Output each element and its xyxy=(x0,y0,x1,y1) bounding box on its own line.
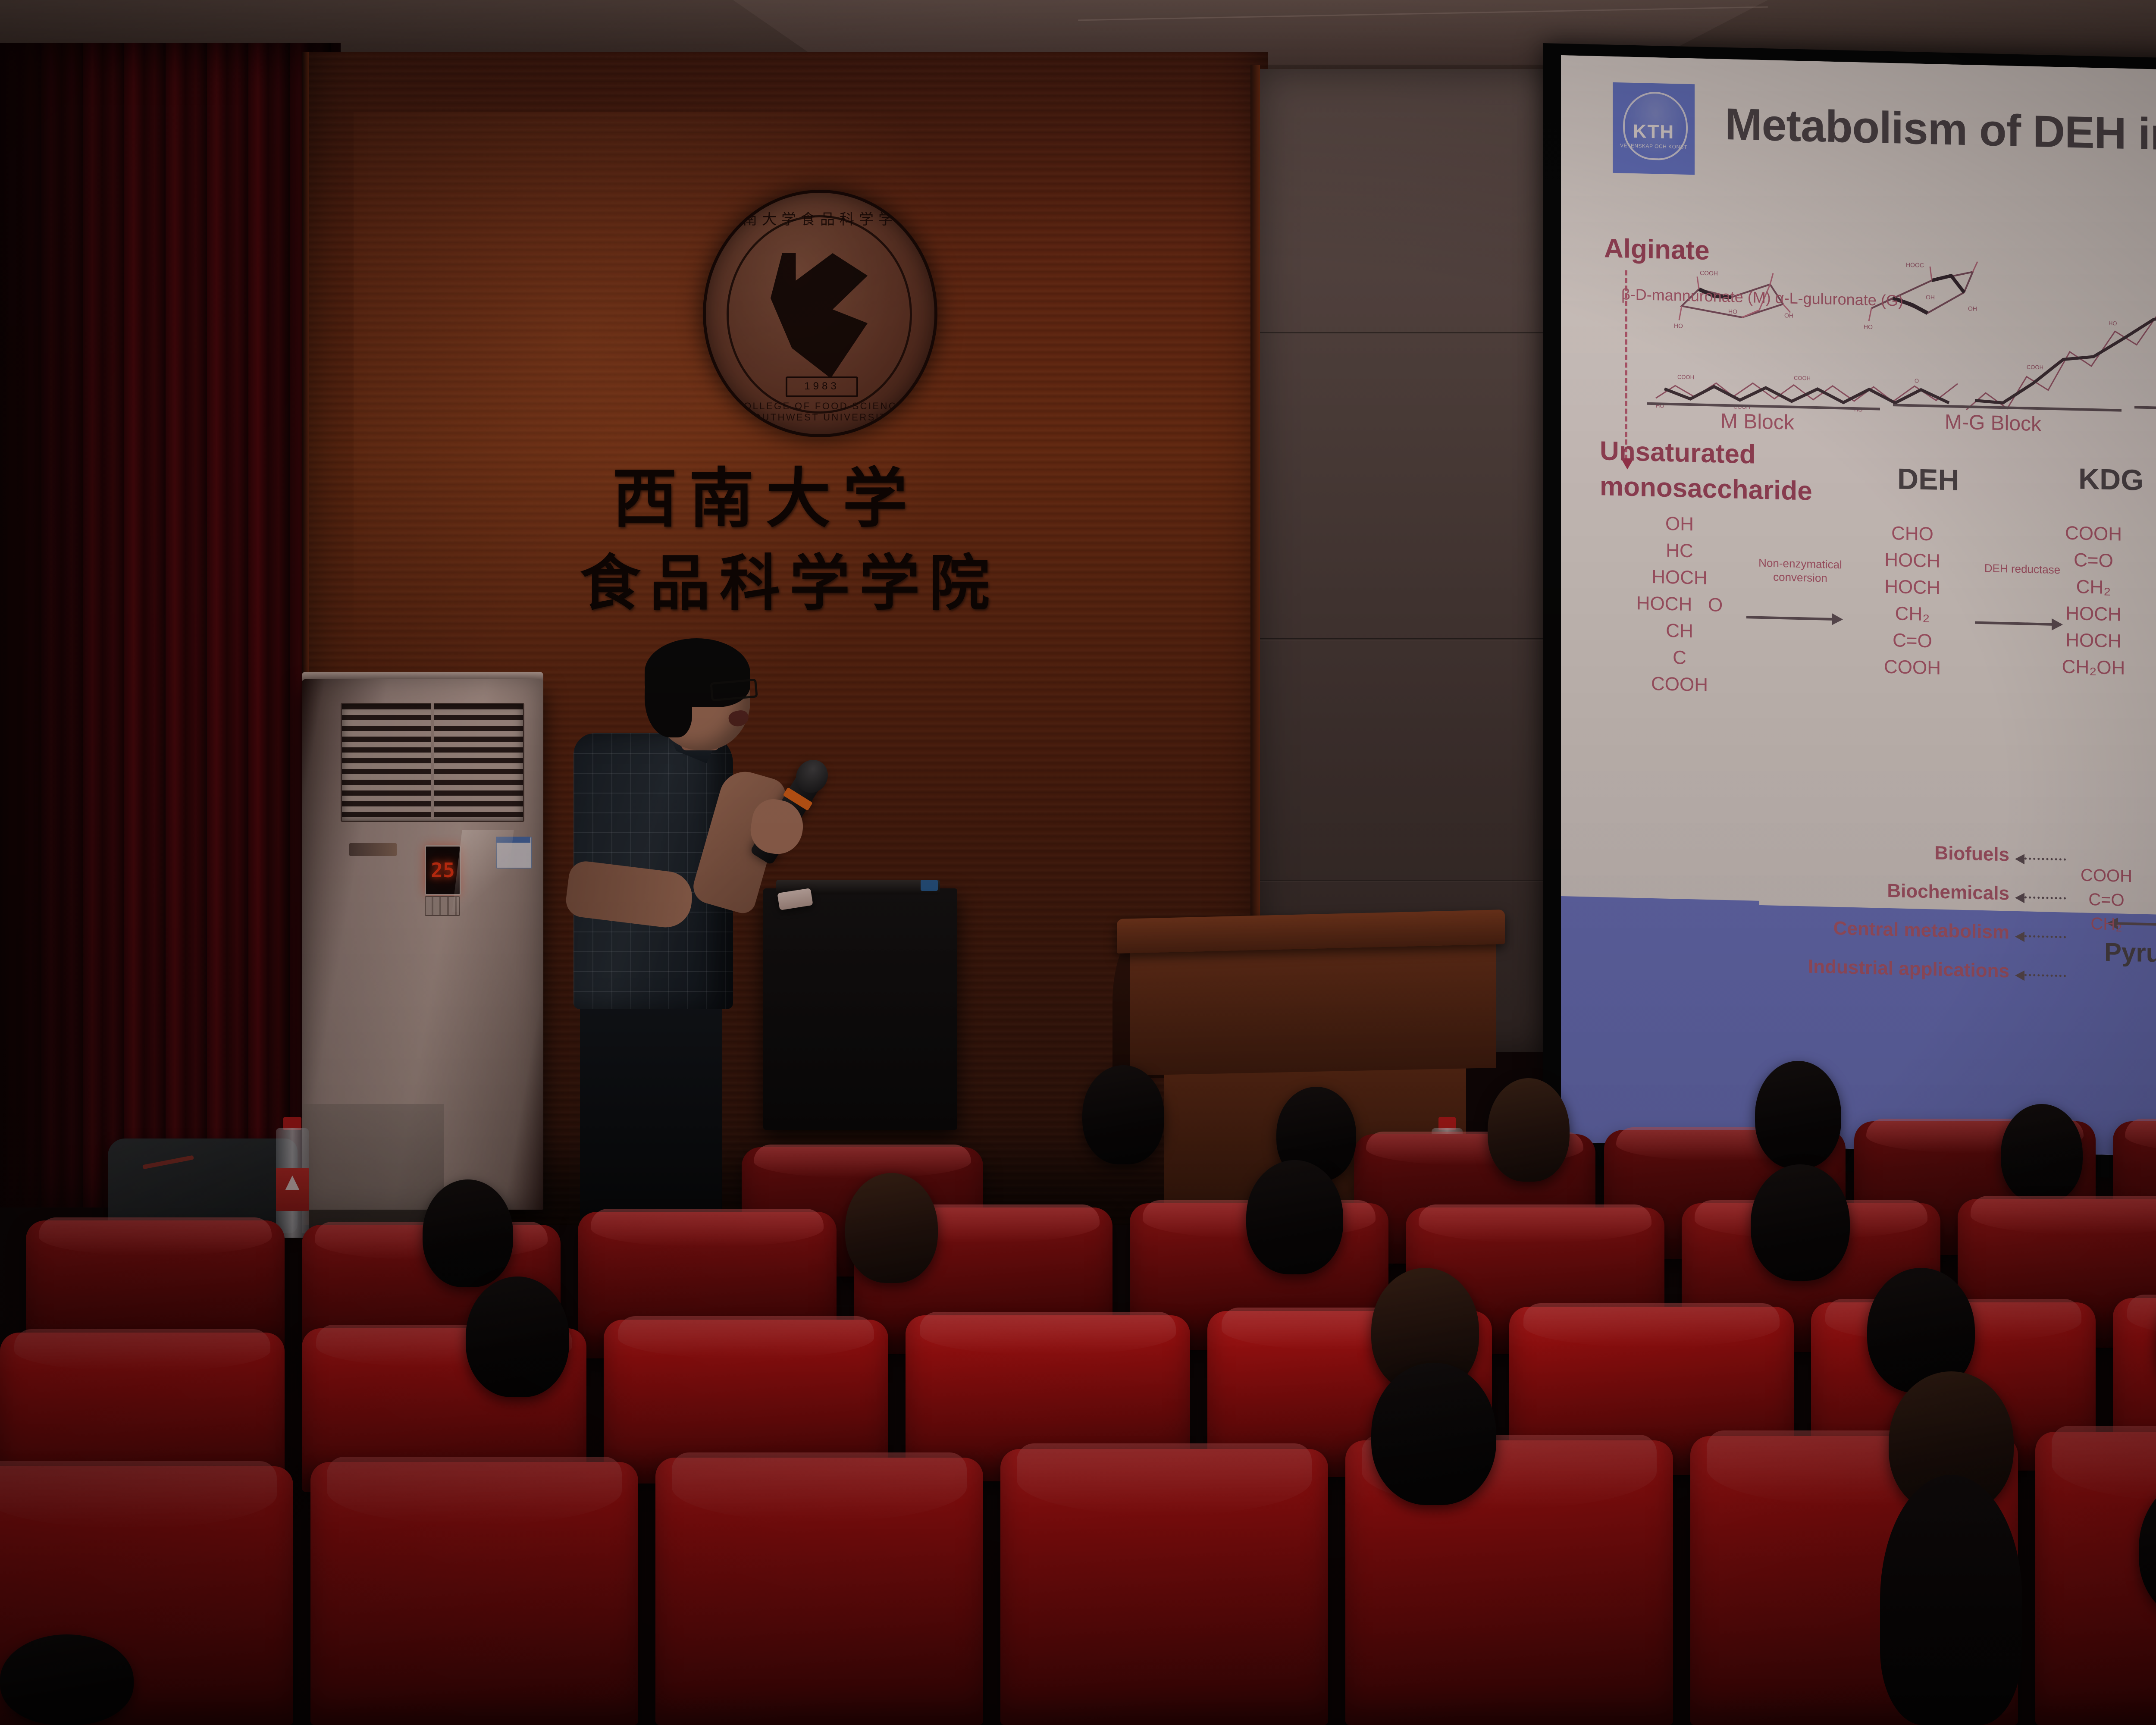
label-unsaturated-line2: monosaccharide xyxy=(1600,471,1812,507)
mg-block-chain-structure: COOH HO O xyxy=(1962,250,2156,430)
svg-text:OH: OH xyxy=(1926,294,1935,301)
theater-seat[interactable] xyxy=(1000,1449,1328,1725)
audience-head xyxy=(1488,1078,1570,1182)
output-arrow-biofuels xyxy=(2024,857,2066,860)
formula-deh: CHO HOCH HOCH CH₂ C=O COOH xyxy=(1858,519,1966,682)
output-arrow-biochemicals xyxy=(2024,896,2066,899)
svg-text:COOH: COOH xyxy=(1794,375,1811,382)
audience-head xyxy=(2001,1104,2083,1203)
audience-head xyxy=(1082,1065,1164,1164)
audience-head xyxy=(1751,1164,1850,1281)
audience-head xyxy=(845,1173,938,1283)
svg-text:HOOC: HOOC xyxy=(1906,261,1924,269)
label-m-block: M Block xyxy=(1720,409,1794,435)
label-kdg: KDG xyxy=(2078,462,2143,497)
svg-text:OH: OH xyxy=(1784,312,1793,319)
audience-hair xyxy=(1880,1475,2022,1725)
kth-logo: KTH VETENSKAP OCH KONST xyxy=(1613,82,1695,175)
curtain-shadow xyxy=(0,43,121,1207)
projection-screen: KTH VETENSKAP OCH KONST Metabolism of DE… xyxy=(1561,55,2156,1166)
svg-text:HO: HO xyxy=(1674,322,1683,329)
air-conditioner-temperature: 25 xyxy=(426,859,460,882)
audience-head xyxy=(1371,1363,1496,1505)
speaker-legs xyxy=(580,988,722,1229)
monomer-caption: β-D-mannuronate (M) α-L-guluronate (G) xyxy=(1621,285,1903,310)
output-biofuels: Biofuels xyxy=(1785,839,2009,866)
svg-text:COOH: COOH xyxy=(2027,364,2043,370)
label-alginate: Alginate xyxy=(1604,233,1710,266)
svg-text:HO: HO xyxy=(2109,320,2117,326)
panel-edge-trim xyxy=(1250,65,1260,1057)
svg-text:COOH: COOH xyxy=(1677,373,1694,380)
speaker-glasses xyxy=(710,678,758,701)
audience-head xyxy=(1246,1160,1343,1274)
enzyme-label-non-enzymatic: Non-enzymatical conversion xyxy=(1742,555,1858,586)
slide-title: Metabolism of DEH in microorganism xyxy=(1725,99,2156,169)
arrow-nonenzymatic xyxy=(1746,616,1841,621)
formula-unsaturated-monosaccharide: OH HC HOCH HOCH O CH C COOH xyxy=(1626,510,1733,699)
audience-head xyxy=(466,1276,569,1397)
label-pyruvate: Pyruvate xyxy=(2104,937,2156,969)
formula-kdg: COOH C=O CH₂ HOCH HOCH CH₂OH xyxy=(2040,519,2147,682)
audience-head xyxy=(423,1179,513,1287)
output-biochemicals: Biochemicals xyxy=(1742,877,2009,905)
label-unsaturated-line1: Unsaturated xyxy=(1600,436,1756,470)
air-conditioner-highlight xyxy=(452,830,514,912)
label-mg-block: M-G Block xyxy=(1945,410,2041,436)
theater-seat[interactable] xyxy=(2035,1432,2156,1725)
air-conditioner-brand-logo xyxy=(349,843,397,856)
svg-text:O: O xyxy=(1915,377,1919,384)
panel-seam xyxy=(1258,332,1560,334)
panel-seam xyxy=(1258,880,1560,882)
svg-text:HO: HO xyxy=(1728,308,1737,315)
acoustic-wall-panel xyxy=(1258,69,1560,1052)
av-equipment-box xyxy=(763,888,957,1130)
podium-body xyxy=(1130,938,1496,1076)
formula-pyruvate: COOH C=O CH₂ xyxy=(2057,862,2156,937)
wall-calligraphy-college: 食品科学学院 xyxy=(580,535,999,622)
presentation-slide: KTH VETENSKAP OCH KONST Metabolism of DE… xyxy=(1561,55,2156,1166)
lecture-hall-photo: 西南大学食品科学学院 1983 COLLEGE OF FOOD SCIENCE … xyxy=(0,0,2156,1725)
bottle-label xyxy=(276,1168,309,1211)
water-bottle xyxy=(276,1117,309,1238)
av-indicator xyxy=(921,880,938,891)
wall-calligraphy-university: 西南大学 xyxy=(612,446,919,540)
svg-text:HO: HO xyxy=(1864,323,1873,330)
kth-logo-subtitle: VETENSKAP OCH KONST xyxy=(1613,143,1695,150)
air-conditioner-grille-divider xyxy=(431,703,434,819)
emblem-year: 1983 xyxy=(786,376,858,397)
emblem-english-text: COLLEGE OF FOOD SCIENCE SOUTHWEST UNIVER… xyxy=(706,401,934,423)
kth-logo-text: KTH xyxy=(1613,120,1695,144)
back-doorway xyxy=(302,1104,444,1233)
audience-head xyxy=(0,1634,134,1725)
svg-text:COOH: COOH xyxy=(1700,270,1718,277)
theater-seat[interactable] xyxy=(655,1458,983,1725)
audience-head xyxy=(1755,1061,1841,1169)
label-deh: DEH xyxy=(1897,462,1959,497)
college-emblem: 西南大学食品科学学院 1983 COLLEGE OF FOOD SCIENCE … xyxy=(703,190,937,437)
theater-seat[interactable] xyxy=(310,1462,638,1725)
panel-seam xyxy=(1258,638,1560,640)
